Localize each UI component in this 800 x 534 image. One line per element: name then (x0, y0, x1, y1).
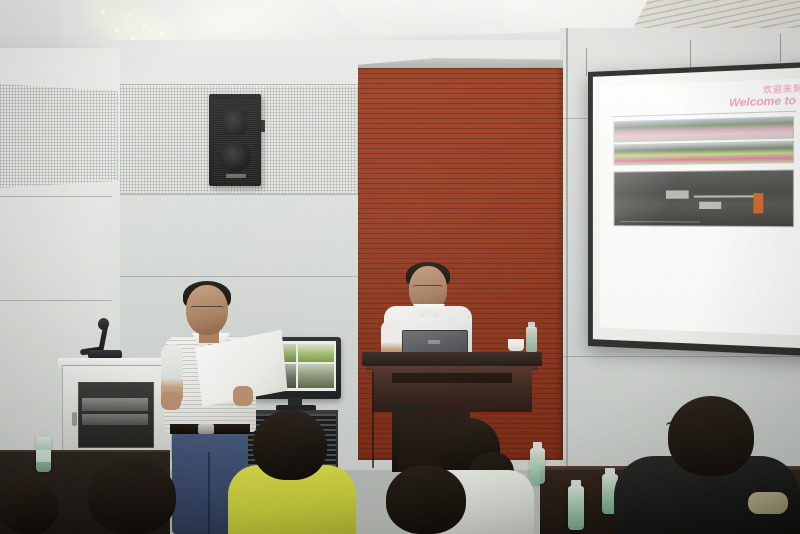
trouser-seam (208, 452, 210, 534)
water-bottle-cap (39, 430, 48, 437)
belt-buckle (198, 424, 214, 434)
audience-front-left-head (88, 458, 176, 534)
monitor-thumb-2 (298, 344, 334, 362)
speaker-woofer (219, 142, 251, 172)
podium-cable (372, 372, 374, 468)
speaker-brand-label (226, 174, 246, 178)
right-wall-pillar-edge (566, 28, 568, 468)
ceiling-spotlight (124, 12, 133, 19)
av-cabinet-handle[interactable] (72, 412, 77, 426)
ceiling-spotlight (140, 22, 149, 29)
water-bottle[interactable] (568, 486, 584, 530)
wall-seam (0, 300, 112, 301)
audience-shoulder-detail (748, 492, 788, 514)
av-rack-device (82, 398, 148, 411)
wall-seam (0, 196, 112, 197)
water-bottle[interactable] (530, 448, 545, 484)
audience-center-head (386, 465, 466, 534)
presentation-room-photo: 欢迎来到 Welcome to ... (0, 0, 800, 534)
ceiling-spotlight (112, 26, 122, 33)
standing-presenter-left-hand (161, 392, 181, 410)
water-bottle-cap (605, 468, 615, 475)
ceiling-spotlight (98, 8, 108, 15)
speaker-tweeter (224, 110, 246, 134)
monitor-thumb-4 (298, 364, 334, 388)
water-bottle-cap (571, 480, 581, 487)
projection-screen: 欢迎来到 Welcome to ... (588, 61, 800, 356)
screen-glare (593, 67, 800, 349)
screen-hanging-wire (586, 48, 587, 76)
paper-cup[interactable] (508, 339, 524, 351)
podium-recess (392, 372, 512, 383)
podium-top (362, 352, 542, 366)
podium-speaker-glasses (412, 285, 443, 292)
screen-surface: 欢迎来到 Welcome to ... (593, 67, 800, 349)
audience-right-glasses (666, 422, 692, 432)
audience-edge-left-head (0, 478, 58, 534)
laptop-logo (428, 340, 440, 344)
water-bottle[interactable] (526, 327, 537, 353)
standing-presenter-right-hand (233, 386, 253, 406)
screen-hanging-wire (690, 40, 691, 70)
standing-presenter-glasses (190, 306, 224, 314)
ceiling-spotlight (158, 30, 167, 37)
water-bottle-cap (533, 442, 542, 449)
av-rack-device (82, 414, 148, 425)
water-bottle-label (36, 450, 51, 462)
screen-hanging-wire (780, 34, 781, 62)
audience-right-dark-head (668, 396, 754, 476)
audience-yellow-shirt-head (253, 410, 327, 480)
wall-seam (560, 356, 800, 357)
left-perforated-panel (0, 84, 118, 188)
